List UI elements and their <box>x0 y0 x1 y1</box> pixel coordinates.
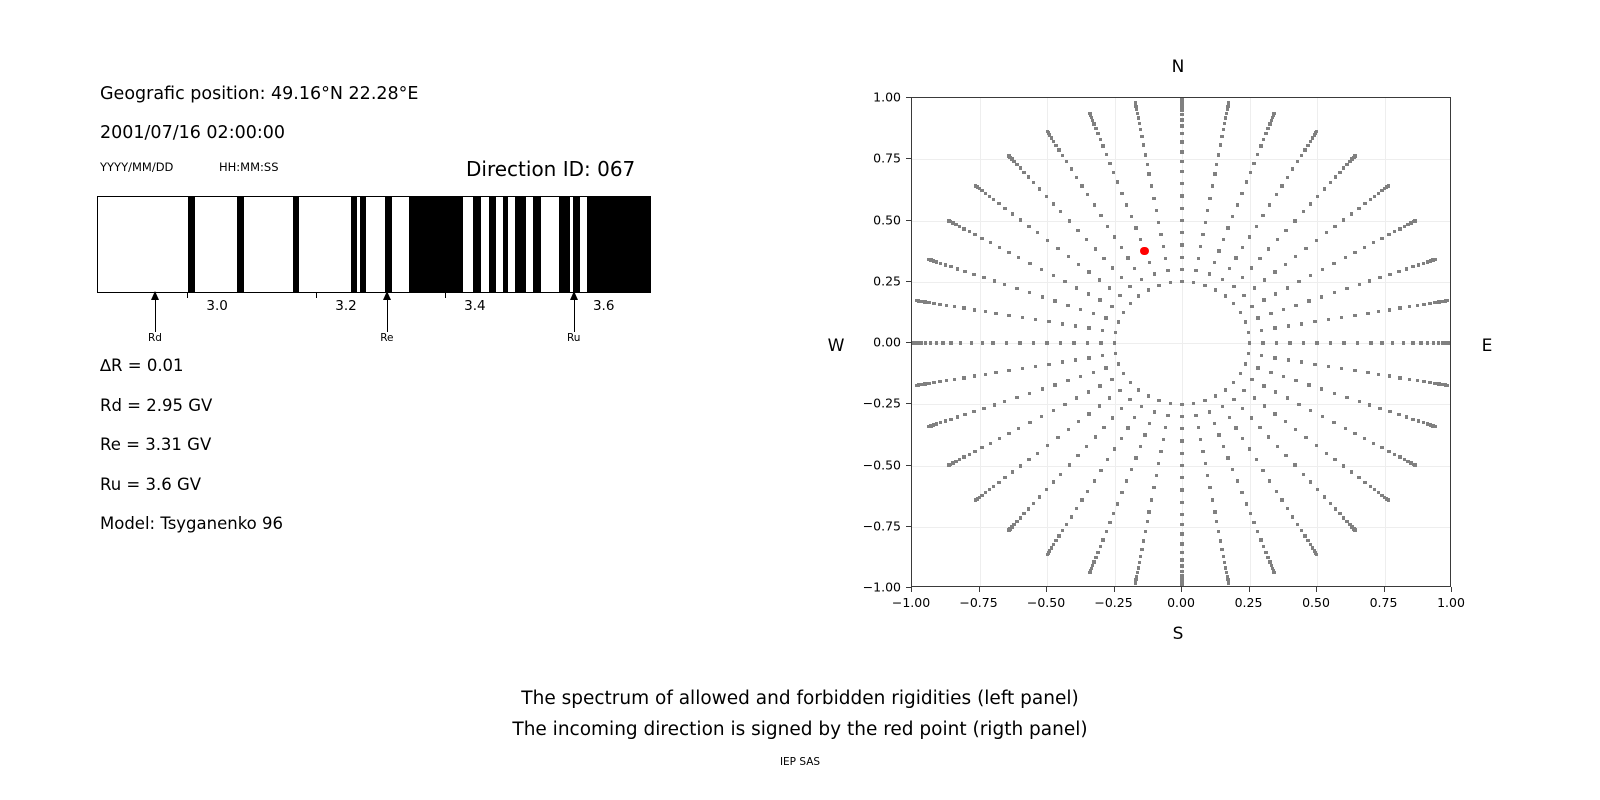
forbidden-band <box>489 197 496 292</box>
direction-sample-point <box>1286 507 1289 510</box>
footer-credit: IEP SAS <box>0 756 1600 768</box>
direction-sample-point <box>1052 274 1055 277</box>
direction-sample-point <box>1032 502 1035 505</box>
direction-sample-point <box>1180 464 1183 467</box>
direction-sample-point <box>1056 247 1059 250</box>
direction-sample-point <box>1393 230 1396 233</box>
direction-sample-point <box>1223 122 1226 125</box>
direction-sample-point <box>929 341 932 344</box>
direction-sample-point <box>1034 365 1037 368</box>
direction-sample-point <box>992 485 995 488</box>
direction-sample-point <box>1333 291 1336 294</box>
direction-sample-point <box>1302 473 1305 476</box>
direction-sample-point <box>1180 488 1183 491</box>
direction-sample-point <box>1300 360 1303 363</box>
direction-sample-point <box>1342 464 1345 467</box>
direction-sample-point <box>1118 294 1121 297</box>
direction-sample-point <box>939 421 942 424</box>
direction-sample-point <box>1067 255 1070 258</box>
x-axis-tick-label: 0.75 <box>1370 595 1398 610</box>
direction-sample-point <box>944 263 947 266</box>
direction-sample-point <box>1208 272 1211 275</box>
direction-sample-point <box>1270 119 1273 122</box>
compass-label-south: S <box>1173 624 1184 644</box>
gridline-horizontal <box>912 527 1450 528</box>
direction-sample-point <box>1075 286 1078 289</box>
direction-sample-point <box>1369 198 1372 201</box>
direction-sample-point <box>1426 341 1429 344</box>
arrow-up-icon <box>570 291 578 300</box>
direction-sample-point <box>1316 195 1319 198</box>
direction-sample-point <box>1180 542 1183 545</box>
direction-sample-point <box>1250 305 1253 308</box>
direction-sample-point <box>1282 375 1285 378</box>
direction-sample-point <box>1256 316 1259 319</box>
direction-sample-point <box>1224 566 1227 569</box>
direction-sample-point <box>1300 154 1303 157</box>
direction-sample-point <box>1047 363 1050 366</box>
direction-sample-point <box>1380 446 1383 449</box>
direction-sample-point <box>1046 553 1049 556</box>
direction-sample-point <box>1315 444 1318 447</box>
direction-sample-point <box>1309 480 1312 483</box>
direction-sample-point <box>1366 371 1369 374</box>
x-axis-tick <box>979 587 980 592</box>
direction-sample-point <box>1306 539 1309 542</box>
direction-sample-point <box>1114 331 1117 334</box>
x-axis-tick-label: −0.25 <box>1094 595 1132 610</box>
direction-sample-point <box>1287 358 1290 361</box>
direction-sample-point <box>1137 116 1140 119</box>
direction-sample-point <box>1027 458 1030 461</box>
direction-sample-point <box>994 312 997 315</box>
direction-sample-point <box>1022 512 1025 515</box>
direction-sample-point <box>1139 445 1142 448</box>
direction-sample-point <box>963 413 966 416</box>
compass-label-east: E <box>1482 336 1493 356</box>
direction-sample-point <box>1061 322 1064 325</box>
direction-sample-point <box>1272 571 1275 574</box>
direction-sample-point <box>1266 556 1269 559</box>
direction-sample-point <box>1398 455 1401 458</box>
direction-sample-point <box>1224 294 1227 297</box>
direction-sample-point <box>1128 398 1131 401</box>
direction-sample-point <box>1357 207 1360 210</box>
direction-sample-point <box>1110 378 1113 381</box>
param-rd: Rd = 2.95 GV <box>100 396 212 415</box>
direction-sample-point <box>1139 128 1142 131</box>
direction-sample-point <box>980 237 983 240</box>
direction-sample-point <box>1247 331 1250 334</box>
direction-sample-point <box>1007 251 1010 254</box>
direction-sample-point <box>1094 127 1097 130</box>
direction-sample-point <box>1092 371 1095 374</box>
direction-sample-point <box>1391 341 1394 344</box>
rigidity-axis-tick-label: 3.0 <box>206 298 227 314</box>
direction-sample-point <box>1211 184 1214 187</box>
direction-sample-point <box>1203 399 1206 402</box>
forbidden-band <box>533 197 541 292</box>
direction-sample-point <box>1378 276 1381 279</box>
direction-sample-point <box>1217 249 1220 252</box>
direction-sample-point <box>1240 491 1243 494</box>
direction-sample-point <box>954 223 957 226</box>
direction-sample-point <box>956 415 959 418</box>
param-re: Re = 3.31 GV <box>100 435 211 454</box>
direction-sample-point <box>1267 247 1270 250</box>
direction-sample-point <box>1363 202 1366 205</box>
direction-sample-point <box>1232 398 1235 401</box>
direction-sample-point <box>962 306 965 309</box>
direction-sample-point <box>1345 163 1348 166</box>
direction-sample-point <box>1226 226 1229 229</box>
direction-sample-point <box>991 341 994 344</box>
direction-sample-point <box>1005 341 1008 344</box>
direction-sample-point <box>1275 193 1278 196</box>
direction-sample-point <box>1236 203 1239 206</box>
direction-sample-point <box>1063 280 1066 283</box>
direction-sample-point <box>1180 160 1183 163</box>
direction-sample-point <box>1096 551 1099 554</box>
direction-sample-point <box>1373 488 1376 491</box>
direction-sample-point <box>1096 132 1099 135</box>
direction-sample-point <box>1363 481 1366 484</box>
direction-sample-point <box>1040 415 1043 418</box>
direction-sample-point <box>1294 304 1297 307</box>
direction-sample-point <box>962 227 965 230</box>
direction-sample-point <box>1007 528 1010 531</box>
direction-sample-point <box>1369 485 1372 488</box>
direction-sample-point <box>1068 463 1071 466</box>
direction-sample-point <box>1258 257 1261 260</box>
direction-sample-point <box>1297 403 1300 406</box>
direction-sample-point <box>1286 176 1289 179</box>
direction-sample-point <box>1059 210 1062 213</box>
direction-sample-point <box>1007 154 1010 157</box>
direction-sample-point <box>1422 421 1425 424</box>
direction-sample-point <box>1300 529 1303 532</box>
direction-sample-point <box>1065 160 1068 163</box>
direction-sample-point <box>1428 302 1431 305</box>
time-format-hint: HH:MM:SS <box>219 160 279 174</box>
arrow-up-icon <box>383 291 391 300</box>
direction-sample-point <box>1117 362 1120 365</box>
direction-sample-point <box>932 381 935 384</box>
direction-sample-point <box>1180 150 1183 153</box>
direction-sample-point <box>1372 442 1375 445</box>
direction-sample-point <box>1294 255 1297 258</box>
direction-sample-point <box>1231 215 1234 218</box>
direction-sample-point <box>1269 312 1272 315</box>
direction-sample-point <box>1250 266 1253 269</box>
direction-sample-point <box>1408 378 1411 381</box>
direction-sample-point <box>954 460 957 463</box>
direction-sample-point <box>1345 396 1348 399</box>
direction-sample-point <box>980 446 983 449</box>
direction-sample-point <box>1087 390 1090 393</box>
direction-sample-point <box>993 279 996 282</box>
direction-sample-point <box>1036 231 1039 234</box>
direction-sample-point <box>984 373 987 376</box>
direction-sample-point <box>1136 112 1139 115</box>
direction-sample-point <box>1080 184 1083 187</box>
direction-sample-point <box>968 453 971 456</box>
direction-sample-point <box>1032 341 1035 344</box>
direction-sample-point <box>963 270 966 273</box>
direction-sample-point <box>947 219 950 222</box>
direction-sample-point <box>1234 426 1237 429</box>
direction-sample-point <box>1028 262 1031 265</box>
direction-sample-point <box>1256 366 1259 369</box>
direction-sample-point <box>962 376 965 379</box>
y-axis-tick <box>906 220 911 221</box>
direction-sample-point <box>1284 263 1287 266</box>
y-axis-tick-label: −0.75 <box>845 518 901 533</box>
direction-sample-point <box>982 276 985 279</box>
direction-sample-point <box>1032 181 1035 184</box>
direction-sample-point <box>973 308 976 311</box>
direction-sample-point <box>1098 384 1101 387</box>
direction-sample-point <box>1245 502 1248 505</box>
direction-sample-point <box>1140 405 1143 408</box>
y-axis-tick-label: −0.50 <box>845 457 901 472</box>
direction-sample-point <box>1093 203 1096 206</box>
direction-sample-point <box>1180 532 1183 535</box>
direction-sample-point <box>1111 416 1114 419</box>
direction-sample-point <box>1157 221 1160 224</box>
direction-sample-point <box>1203 284 1206 287</box>
direction-sample-point <box>973 374 976 377</box>
direction-sample-point <box>1150 498 1153 501</box>
direction-sample-point <box>997 481 1000 484</box>
direction-sample-point <box>1323 495 1326 498</box>
direction-sample-point <box>1155 209 1158 212</box>
direction-sample-point <box>1313 363 1316 366</box>
direction-sample-point <box>1138 561 1141 564</box>
direction-sample-point <box>1316 488 1319 491</box>
direction-sample-point <box>1079 375 1082 378</box>
direction-sample-point <box>1293 463 1296 466</box>
direction-sample-point <box>1192 281 1195 284</box>
forbidden-band <box>515 197 525 292</box>
direction-sample-point <box>1350 470 1353 473</box>
direction-sample-point <box>1302 210 1305 213</box>
direction-sample-point <box>1206 474 1209 477</box>
direction-sample-point <box>935 422 938 425</box>
direction-sample-point <box>1148 422 1151 425</box>
direction-sample-point <box>1334 175 1337 178</box>
direction-sample-point <box>1263 404 1266 407</box>
direction-sample-point <box>1325 452 1328 455</box>
direction-sample-point <box>1288 341 1291 344</box>
direction-sample-point <box>1139 555 1142 558</box>
direction-sample-point <box>1054 144 1057 147</box>
direction-sample-point <box>911 341 914 344</box>
direction-sample-point <box>1296 523 1299 526</box>
direction-sample-point <box>1291 515 1294 518</box>
direction-sample-point <box>1074 358 1077 361</box>
direction-sample-point <box>1397 413 1400 416</box>
direction-sample-point <box>1273 356 1276 359</box>
direction-sample-point <box>1267 435 1270 438</box>
direction-sample-point <box>1333 392 1336 395</box>
direction-sample-point <box>988 195 991 198</box>
direction-sample-point <box>1219 539 1222 542</box>
direction-sample-point <box>1378 407 1381 410</box>
direction-sample-point <box>1323 187 1326 190</box>
direction-sample-point <box>1166 414 1169 417</box>
direction-sample-point <box>1018 341 1021 344</box>
direction-sample-point <box>1402 341 1405 344</box>
direction-sample-point <box>1388 410 1391 413</box>
direction-sample-point <box>915 384 918 387</box>
direction-sample-point <box>1015 163 1018 166</box>
direction-sample-point <box>1164 426 1167 429</box>
direction-sample-point <box>1252 162 1255 165</box>
direction-sample-point <box>1056 436 1059 439</box>
direction-sample-point <box>1137 566 1140 569</box>
direction-sample-point <box>1157 399 1160 402</box>
direction-sample-point <box>994 371 997 374</box>
forbidden-band <box>385 197 392 292</box>
direction-sample-point <box>1117 320 1120 323</box>
direction-sample-point <box>1045 341 1048 344</box>
direction-sample-point <box>1074 324 1077 327</box>
direction-sample-point <box>1333 458 1336 461</box>
direction-sample-point <box>1086 341 1089 344</box>
direction-sample-point <box>1405 415 1408 418</box>
rigidity-axis-tick <box>316 293 317 298</box>
direction-sample-point <box>1199 438 1202 441</box>
direction-sample-point <box>1066 304 1069 307</box>
direction-sample-point <box>1027 507 1030 510</box>
direction-sample-point <box>1327 365 1330 368</box>
direction-sample-point <box>1019 218 1022 221</box>
direction-sample-point <box>1300 322 1303 325</box>
direction-sample-point <box>1120 437 1123 440</box>
direction-sample-point <box>1087 356 1090 359</box>
param-model: Model: Tsyganenko 96 <box>100 514 283 533</box>
direction-sample-point <box>927 301 930 304</box>
x-axis-tick-label: −0.50 <box>1027 595 1065 610</box>
direction-sample-point <box>1332 262 1335 265</box>
direction-sample-point <box>1180 564 1183 567</box>
direction-sample-point <box>1087 270 1090 273</box>
direction-sample-point <box>1273 270 1276 273</box>
direction-sample-point <box>1236 479 1239 482</box>
direction-sample-point <box>974 184 977 187</box>
direction-sample-point <box>1046 239 1049 242</box>
direction-sample-point <box>1307 299 1310 302</box>
direction-sample-point <box>1007 314 1010 317</box>
direction-sample-point <box>1358 283 1361 286</box>
direction-sample-point <box>1276 238 1279 241</box>
direction-sample-point <box>1028 291 1031 294</box>
rigidity-spectrum-bar <box>97 196 651 293</box>
direction-sample-point <box>984 192 987 195</box>
forbidden-band <box>559 197 569 292</box>
direction-sample-point <box>1180 140 1183 143</box>
direction-sample-point <box>1261 341 1264 344</box>
direction-sample-point <box>1253 396 1256 399</box>
direction-sample-point <box>1180 570 1183 573</box>
direction-sample-point <box>1052 409 1055 412</box>
direction-sample-point <box>927 382 930 385</box>
direction-sample-point <box>1345 287 1348 290</box>
direction-sample-point <box>1269 371 1272 374</box>
direction-sample-point <box>1213 510 1216 513</box>
direction-sample-point <box>1027 175 1030 178</box>
direction-sample-point <box>1022 171 1025 174</box>
direction-sample-point <box>1306 144 1309 147</box>
direction-sample-point <box>1273 412 1276 415</box>
direction-sample-point <box>1144 153 1147 156</box>
direction-sample-point <box>1220 135 1223 138</box>
direction-sample-point <box>1098 298 1101 301</box>
direction-id-label: Direction ID: 067 <box>466 157 635 181</box>
forbidden-band <box>587 197 651 292</box>
direction-sample-point <box>998 246 1001 249</box>
direction-sample-point <box>1309 140 1312 143</box>
direction-sample-point <box>1377 373 1380 376</box>
direction-sample-point <box>1130 468 1133 471</box>
direction-sample-point <box>1180 124 1183 127</box>
x-axis-tick-label: 0.50 <box>1302 595 1330 610</box>
direction-sample-point <box>1248 235 1251 238</box>
direction-sample-point <box>1099 214 1102 217</box>
direction-sample-point <box>1147 172 1150 175</box>
direction-sample-point <box>1398 227 1401 230</box>
x-axis-tick-label: −1.00 <box>892 595 930 610</box>
direction-sample-point <box>1159 450 1162 453</box>
direction-sample-point <box>1422 262 1425 265</box>
direction-sample-point <box>1066 379 1069 382</box>
polar-scatter-plot <box>911 97 1451 587</box>
direction-sample-point <box>1104 366 1107 369</box>
direction-sample-point <box>1102 257 1105 260</box>
direction-sample-point <box>1215 163 1218 166</box>
direction-sample-point <box>1262 138 1265 141</box>
direction-sample-point <box>919 341 922 344</box>
direction-sample-point <box>1155 474 1158 477</box>
direction-sample-point <box>1214 288 1217 291</box>
direction-sample-point <box>1344 427 1347 430</box>
direction-sample-point <box>1180 551 1183 554</box>
direction-sample-point <box>956 267 959 270</box>
direction-sample-point <box>1309 409 1312 412</box>
direction-sample-point <box>1302 341 1305 344</box>
direction-sample-point <box>1413 463 1416 466</box>
y-axis-tick-label: 0.25 <box>845 273 901 288</box>
direction-sample-point <box>1076 454 1079 457</box>
direction-sample-point <box>1342 218 1345 221</box>
direction-sample-point <box>1225 112 1228 115</box>
direction-sample-point <box>1263 278 1266 281</box>
direction-sample-point <box>1106 458 1109 461</box>
direction-sample-point <box>1116 502 1119 505</box>
direction-sample-point <box>1180 207 1183 210</box>
direction-sample-point <box>1303 534 1306 537</box>
direction-sample-point <box>1113 341 1116 344</box>
direction-sample-point <box>1099 341 1102 344</box>
y-axis-tick <box>906 526 911 527</box>
direction-sample-point <box>1180 182 1183 185</box>
direction-sample-point <box>1129 302 1132 305</box>
direction-sample-point <box>1273 326 1276 329</box>
direction-sample-point <box>974 498 977 501</box>
y-axis-tick-label: 0.00 <box>845 335 901 350</box>
direction-sample-point <box>1152 486 1155 489</box>
